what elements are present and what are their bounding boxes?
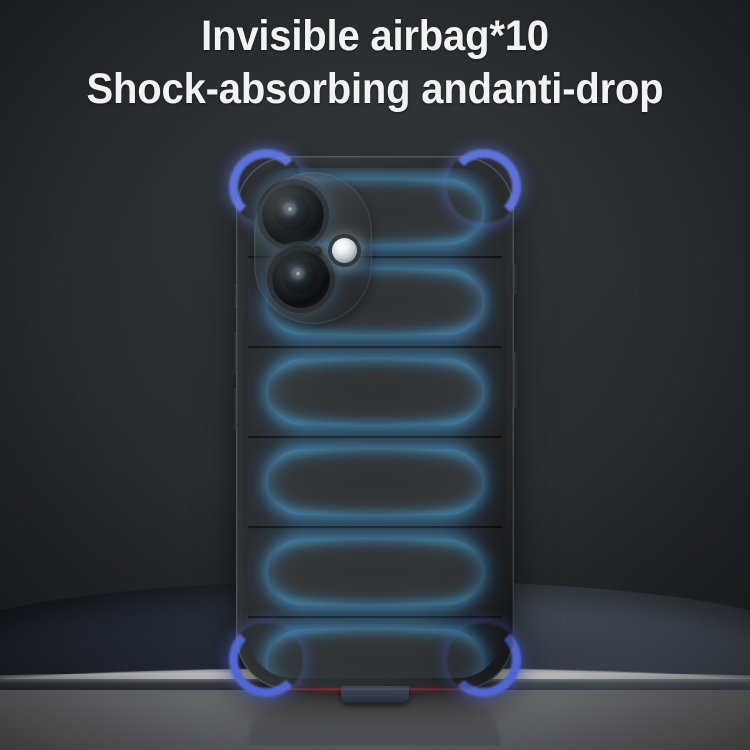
mute-switch[interactable] [233, 284, 239, 308]
airbag-ridge [248, 440, 502, 524]
camera-control-button[interactable] [511, 264, 517, 294]
ultrawide-lens [272, 250, 330, 308]
headline-block: Invisible airbag*10 Shock-absorbing anda… [0, 14, 750, 112]
reflection-blob [248, 696, 500, 746]
power-button[interactable] [511, 352, 517, 408]
ridge-groove [248, 526, 502, 529]
headline-line-1: Invisible airbag*10 [26, 14, 724, 60]
corner-airbag-bottom-left [229, 623, 303, 697]
ridge-groove [248, 346, 502, 349]
camera-module [254, 172, 382, 324]
wide-lens [262, 184, 324, 246]
airbag-pill [268, 359, 481, 425]
airbag-pill [268, 539, 481, 605]
airbag-pill [268, 449, 481, 515]
volume-down-button[interactable] [233, 388, 239, 430]
airbag-ridge [248, 530, 502, 614]
corner-airbag-top-right [447, 149, 521, 223]
microphone-dot [312, 246, 322, 256]
ridge-groove [248, 616, 502, 619]
corner-airbag-bottom-right [447, 623, 521, 697]
ridge-groove [248, 436, 502, 439]
led-flash-icon [332, 238, 357, 263]
headline-line-2: Shock-absorbing andanti-drop [26, 67, 724, 113]
airbag-ridge [248, 350, 502, 434]
volume-up-button[interactable] [233, 332, 239, 374]
camera-lens-group [260, 180, 372, 316]
phone-case-product [236, 156, 514, 690]
product-banner-stage: Invisible airbag*10 Shock-absorbing anda… [0, 0, 750, 750]
bottom-stand-tab [341, 686, 409, 703]
